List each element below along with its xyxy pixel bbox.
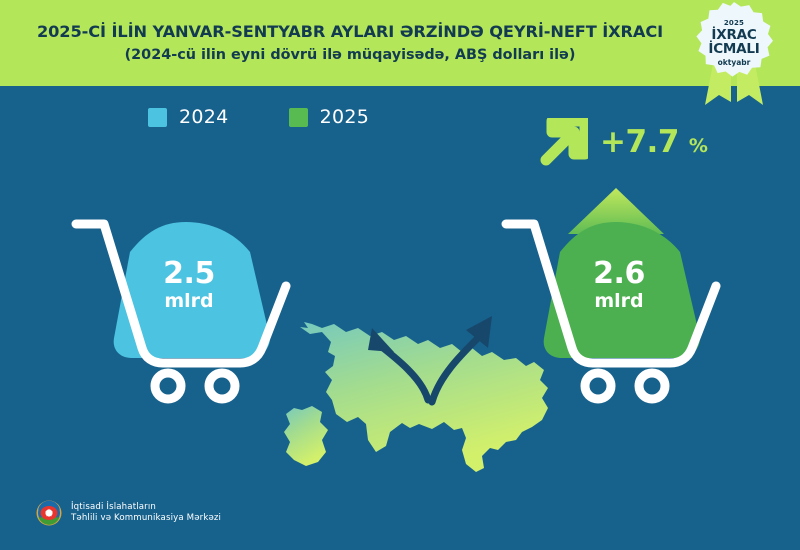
legend-label-2024: 2024 (179, 106, 229, 128)
badge-rosette-icon (686, 2, 782, 106)
legend-item-2025: 2025 (289, 106, 370, 128)
cart-2025: 2.6 mlrd (494, 186, 744, 410)
azerbaijan-emblem-icon (36, 500, 62, 526)
footer-line-2: Təhlili və Kommunikasiya Mərkəzi (71, 513, 221, 524)
legend-swatch-2024 (148, 108, 167, 127)
growth-value: +7.7 (600, 126, 679, 158)
header-band: 2025-Cİ İLİN YANVAR-SENTYABR AYLARI ƏRZİ… (0, 0, 800, 86)
infographic-root: 2025-Cİ İLİN YANVAR-SENTYABR AYLARI ƏRZİ… (0, 0, 800, 550)
legend-item-2024: 2024 (148, 106, 229, 128)
footer-line-1: İqtisadi İslahatların (71, 502, 221, 513)
page-subtitle: (2024-cü ilin eyni dövrü ilə müqayisədə,… (30, 46, 670, 65)
legend: 2024 2025 (148, 106, 369, 128)
page-title: 2025-Cİ İLİN YANVAR-SENTYABR AYLARI ƏRZİ… (30, 22, 670, 42)
growth-unit: % (689, 130, 708, 166)
shopping-cart-2024-icon (64, 210, 314, 410)
growth-indicator: +7.7 % (538, 118, 708, 166)
arrow-up-right-icon (538, 118, 588, 166)
legend-label-2025: 2025 (320, 106, 370, 128)
legend-swatch-2025 (289, 108, 308, 127)
footer-logo: İqtisadi İslahatların Təhlili və Kommuni… (36, 500, 221, 526)
shopping-cart-2025-icon (494, 186, 744, 410)
cart-2024: 2.5 mlrd (64, 210, 314, 410)
footer-text-group: İqtisadi İslahatların Təhlili və Kommuni… (71, 502, 221, 524)
report-badge: 2025 İXRAC İCMALI oktyabr (686, 2, 782, 106)
